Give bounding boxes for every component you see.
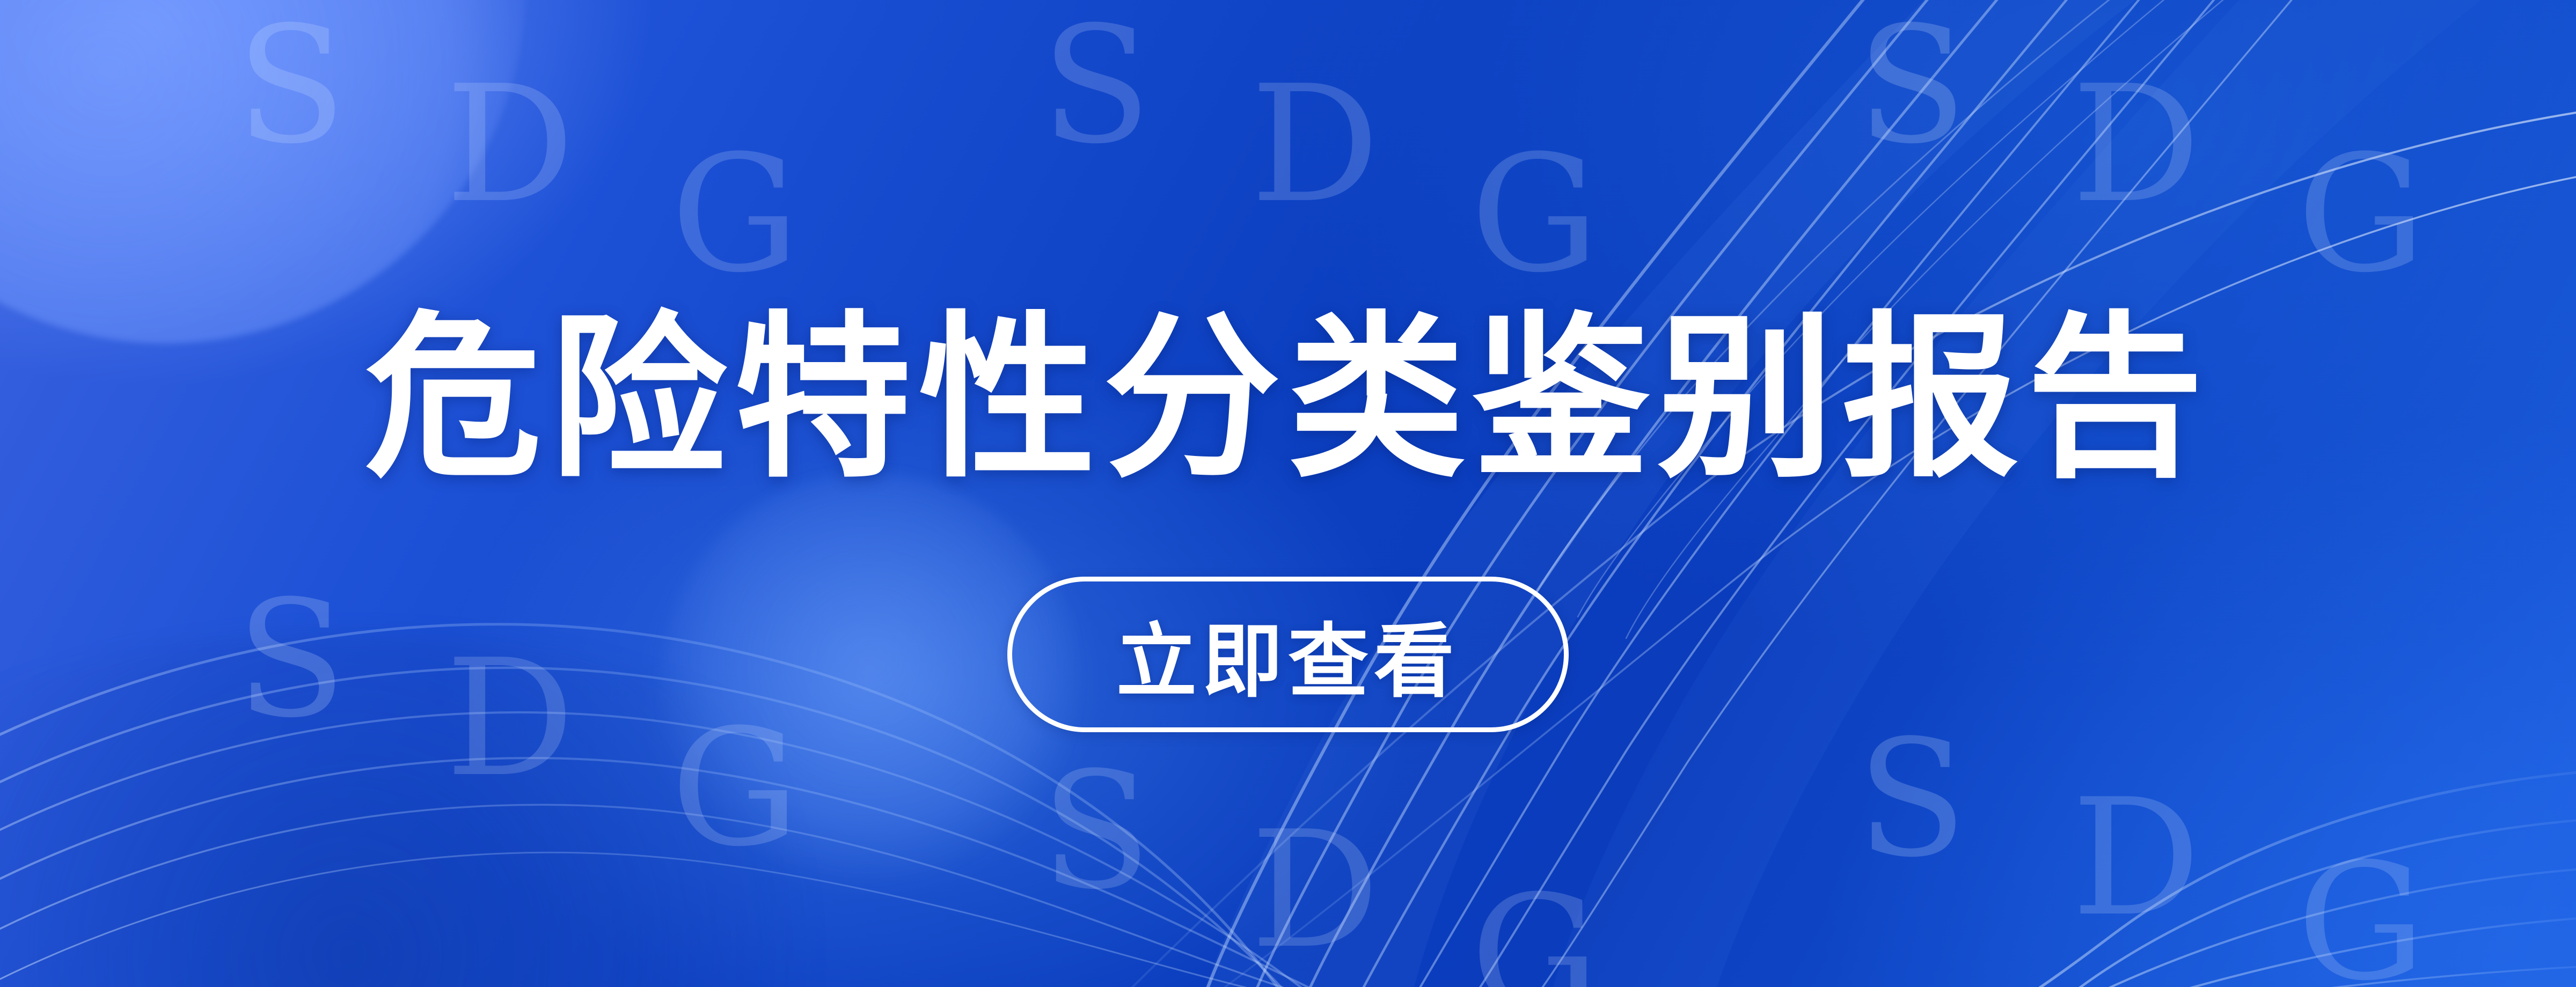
promo-banner: SDGSDGSDGSDGSDGSDG 危险特性分类鉴别报告 立即查看	[0, 0, 2576, 987]
view-now-button-label: 立即查看	[1116, 596, 1460, 713]
banner-content: 危险特性分类鉴别报告 立即查看	[0, 0, 2576, 987]
banner-title: 危险特性分类鉴别报告	[365, 255, 2211, 511]
cta-container: 立即查看	[1007, 577, 1569, 732]
view-now-button[interactable]: 立即查看	[1007, 577, 1569, 732]
